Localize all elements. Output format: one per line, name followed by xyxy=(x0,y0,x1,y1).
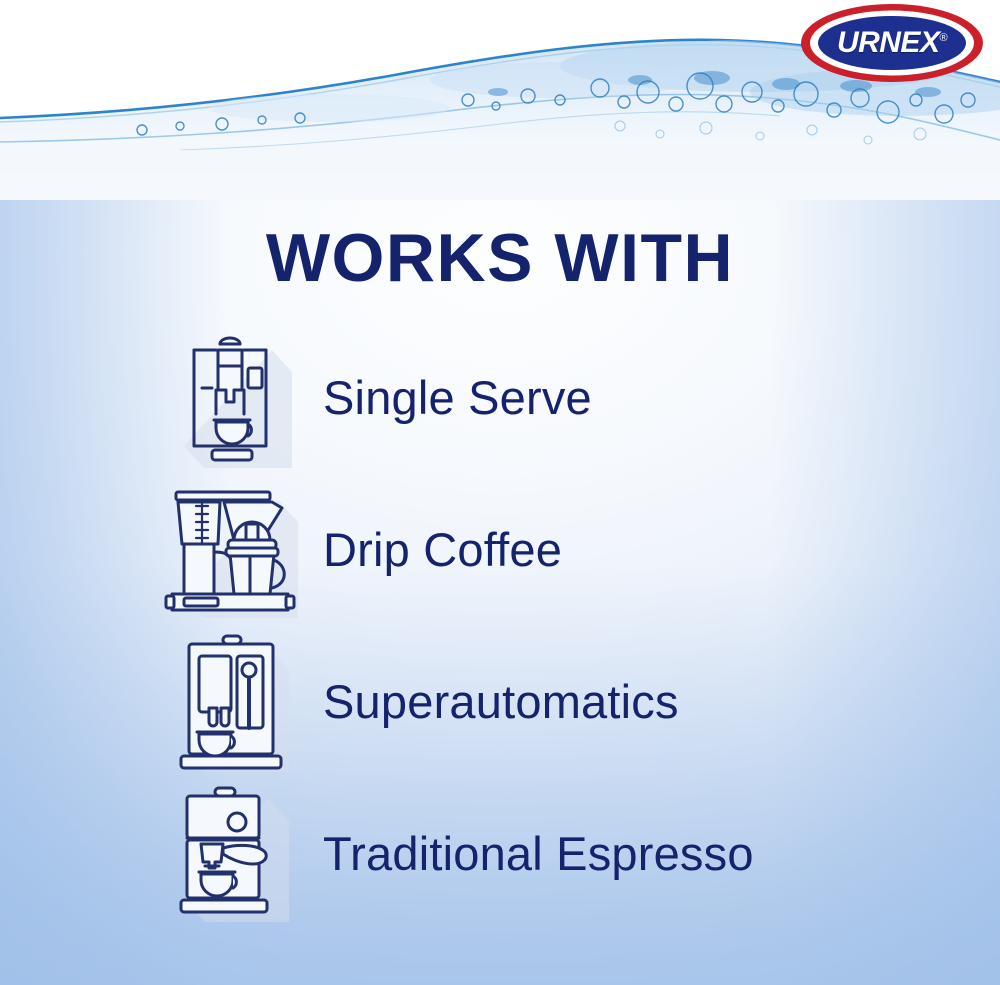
traditional-espresso-machine-icon xyxy=(165,784,295,924)
list-item-label: Drip Coffee xyxy=(323,525,562,574)
works-with-infographic: URNEX® WORKS WITH xyxy=(0,0,1000,985)
single-serve-machine-icon xyxy=(165,328,295,468)
list-item: Single Serve xyxy=(0,322,1000,474)
page-title: WORKS WITH xyxy=(0,224,1000,292)
list-item: Superautomatics xyxy=(0,626,1000,778)
urnex-logo-text: URNEX® xyxy=(799,28,985,58)
urnex-logo: URNEX® xyxy=(799,2,985,84)
list-item-label: Superautomatics xyxy=(323,677,679,726)
list-item-label: Traditional Espresso xyxy=(323,829,754,878)
superautomatic-machine-icon xyxy=(165,632,295,772)
registered-trademark-icon: ® xyxy=(939,32,947,44)
list-item: Traditional Espresso xyxy=(0,778,1000,930)
list-item-label: Single Serve xyxy=(323,373,592,422)
urnex-wordmark: URNEX xyxy=(837,26,940,59)
list-item: Drip Coffee xyxy=(0,474,1000,626)
machine-type-list: Single Serve xyxy=(0,322,1000,930)
drip-coffee-maker-icon xyxy=(165,480,295,620)
